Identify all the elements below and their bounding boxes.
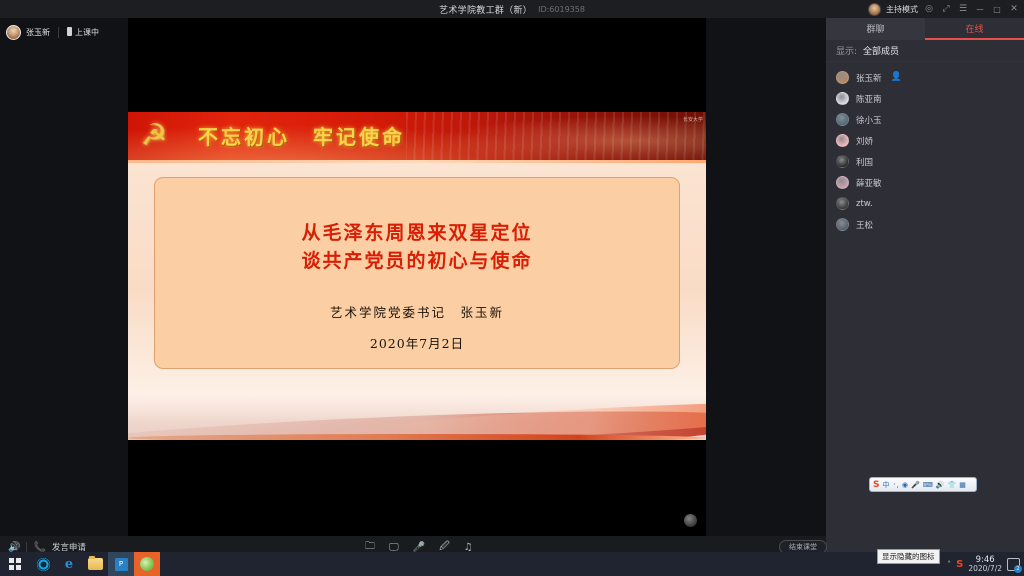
ime-chinese-mode-icon[interactable]: 中 [882, 480, 889, 490]
list-item[interactable]: 王松 [826, 214, 1024, 235]
right-panel: 群聊 在线 显示: 全部成员 张玉新👤陈亚南徐小玉刘娇利国薛亚敏ztw.王松 [826, 18, 1024, 576]
windows-logo-icon [9, 558, 21, 570]
member-name: 薛亚敏 [856, 177, 882, 189]
close-button[interactable]: ✕ [1008, 4, 1020, 14]
slide-title-line-2: 谈共产党员的初心与使命 [301, 248, 532, 276]
folder-icon [88, 558, 103, 570]
slide-body: 从毛泽东周恩来双星定位 谈共产党员的初心与使命 艺术学院党委书记 张玉新 202… [128, 163, 706, 395]
list-item[interactable]: ztw. [826, 193, 1024, 214]
ime-toolbox-icon[interactable]: ▦ [959, 481, 966, 489]
page-title: 艺术学院教工群（新） [439, 3, 532, 16]
system-tray: ˄ S 9:46 2020/7/2 2 [947, 552, 1024, 576]
stage-indicator-icon[interactable] [684, 514, 697, 527]
member-name: 利国 [856, 156, 873, 168]
avatar [836, 134, 849, 147]
member-name: 陈亚南 [856, 93, 882, 105]
show-hidden-icons-button[interactable]: ˄ [947, 560, 951, 569]
ime-punctuation-icon[interactable]: ᛫, [892, 481, 898, 489]
member-name: 张玉新 [856, 72, 882, 84]
edge-button[interactable]: e [56, 552, 82, 576]
slide-subtitle: 艺术学院党委书记 张玉新 [330, 302, 504, 321]
member-name: ztw. [856, 199, 873, 209]
host-mode-label[interactable]: 主持模式 [886, 4, 918, 15]
ppt-icon: P [115, 558, 128, 571]
record-icon[interactable]: ◎ [923, 4, 935, 14]
ime-voice-icon[interactable]: 🎤 [911, 481, 920, 489]
cortana-button[interactable] [30, 552, 56, 576]
status-indicator-icon [67, 27, 72, 36]
meeting-app-window: 艺术学院教工群（新） ID:6019358 主持模式 ◎ ⤢ ☰ － □ ✕ 张… [0, 0, 1024, 576]
file-explorer-button[interactable] [82, 552, 108, 576]
list-item[interactable]: 张玉新👤 [826, 67, 1024, 88]
edge-icon: e [65, 557, 73, 572]
banner-text: 不忘初心 牢记使命 [198, 121, 405, 150]
slide-corner-mark: 长安大学 [683, 116, 703, 123]
clock-date: 2020/7/2 [968, 565, 1002, 573]
tab-group-chat[interactable]: 群聊 [826, 18, 925, 40]
ime-keyboard-icon[interactable]: ⌨ [923, 481, 933, 489]
ime-sound-icon[interactable]: 🔊 [936, 481, 945, 489]
clock[interactable]: 9:46 2020/7/2 [968, 556, 1002, 573]
sogou-ime-toolbar[interactable]: S 中 ᛫, ◉ 🎤 ⌨ 🔊 👕 ▦ [869, 477, 977, 492]
right-dark-column [706, 18, 826, 536]
avatar [836, 197, 849, 210]
member-name: 王松 [856, 219, 873, 231]
sogou-tray-icon[interactable]: S [956, 559, 963, 570]
slide-title-line-1: 从毛泽东周恩来双星定位 [301, 220, 532, 248]
avatar [836, 176, 849, 189]
wechat-button[interactable] [134, 552, 160, 576]
cortana-icon [37, 558, 50, 571]
member-filter-label: 显示: [836, 44, 857, 57]
local-user-name: 张玉新 [26, 27, 50, 38]
avatar [836, 113, 849, 126]
avatar [836, 92, 849, 105]
class-status: 上课中 [67, 27, 99, 38]
divider [26, 542, 27, 552]
list-item[interactable]: 利国 [826, 151, 1024, 172]
ime-skin-icon[interactable]: 👕 [948, 481, 957, 489]
slide-title-card: 从毛泽东周恩来双星定位 谈共产党员的初心与使命 艺术学院党委书记 张玉新 202… [154, 177, 680, 369]
windows-taskbar: e P ˄ S 9:46 2020/7/2 2 [0, 552, 1024, 576]
party-emblem-icon: ☭ [134, 116, 174, 156]
phone-icon[interactable]: 📞 [33, 542, 45, 553]
panel-tabs: 群聊 在线 [826, 18, 1024, 40]
ime-settings-icon[interactable]: ◉ [902, 481, 908, 489]
member-list: 张玉新👤陈亚南徐小玉刘娇利国薛亚敏ztw.王松 [826, 62, 1024, 235]
local-user-badge: 张玉新 上课中 [6, 22, 99, 42]
slide-date: 2020年7月2日 [370, 333, 464, 352]
shared-slide: ☭ 不忘初心 牢记使命 从毛泽东周恩来双星定位 谈共产党员的初心与使命 艺术学院… [128, 112, 706, 440]
minimize-button[interactable]: － [974, 3, 986, 16]
music-icon[interactable]: ♫ [464, 542, 473, 553]
left-dark-column [0, 18, 128, 536]
microphone-icon[interactable]: 🎤 [413, 542, 425, 553]
avatar [836, 218, 849, 231]
room-id: ID:6019358 [538, 5, 585, 14]
class-status-label: 上课中 [75, 28, 99, 37]
list-item[interactable]: 薛亚敏 [826, 172, 1024, 193]
member-name: 徐小玉 [856, 114, 882, 126]
member-filter[interactable]: 显示: 全部成员 [826, 40, 1024, 62]
notification-center-button[interactable]: 2 [1007, 558, 1020, 571]
avatar [836, 155, 849, 168]
title-bar-controls: 主持模式 ◎ ⤢ ☰ － □ ✕ [868, 0, 1020, 18]
list-item[interactable]: 徐小玉 [826, 109, 1024, 130]
wechat-icon [140, 557, 154, 571]
start-button[interactable] [0, 552, 30, 576]
member-filter-value[interactable]: 全部成员 [863, 44, 899, 57]
avatar [836, 71, 849, 84]
screen-share-icon[interactable]: 🖵 [389, 542, 399, 553]
swoosh-shape-3 [128, 434, 706, 440]
host-avatar [868, 3, 881, 16]
tray-tooltip: 显示隐藏的图标 [877, 549, 940, 564]
list-item[interactable]: 陈亚南 [826, 88, 1024, 109]
list-item[interactable]: 刘娇 [826, 130, 1024, 151]
tab-online[interactable]: 在线 [925, 18, 1024, 40]
title-bar: 艺术学院教工群（新） ID:6019358 主持模式 ◎ ⤢ ☰ － □ ✕ [0, 0, 1024, 18]
slide-footer-decoration [128, 395, 706, 440]
powerpoint-button[interactable]: P [108, 552, 134, 576]
divider [58, 27, 59, 38]
member-name: 刘娇 [856, 135, 873, 147]
slide-banner: ☭ 不忘初心 牢记使命 [128, 112, 706, 160]
maximize-button[interactable]: □ [991, 5, 1003, 14]
slide-title: 从毛泽东周恩来双星定位 谈共产党员的初心与使命 [301, 220, 532, 275]
sogou-logo-icon[interactable]: S [873, 480, 879, 490]
avatar [6, 25, 21, 40]
speaker-icon[interactable]: 🔊 [8, 542, 20, 553]
menu-icon[interactable]: ☰ [957, 4, 969, 14]
fullscreen-icon[interactable]: ⤢ [940, 4, 952, 14]
host-badge-icon: 👤 [891, 73, 902, 82]
notification-count-badge: 2 [1014, 565, 1022, 573]
video-stage[interactable]: ☭ 不忘初心 牢记使命 从毛泽东周恩来双星定位 谈共产党员的初心与使命 艺术学院… [128, 18, 706, 536]
